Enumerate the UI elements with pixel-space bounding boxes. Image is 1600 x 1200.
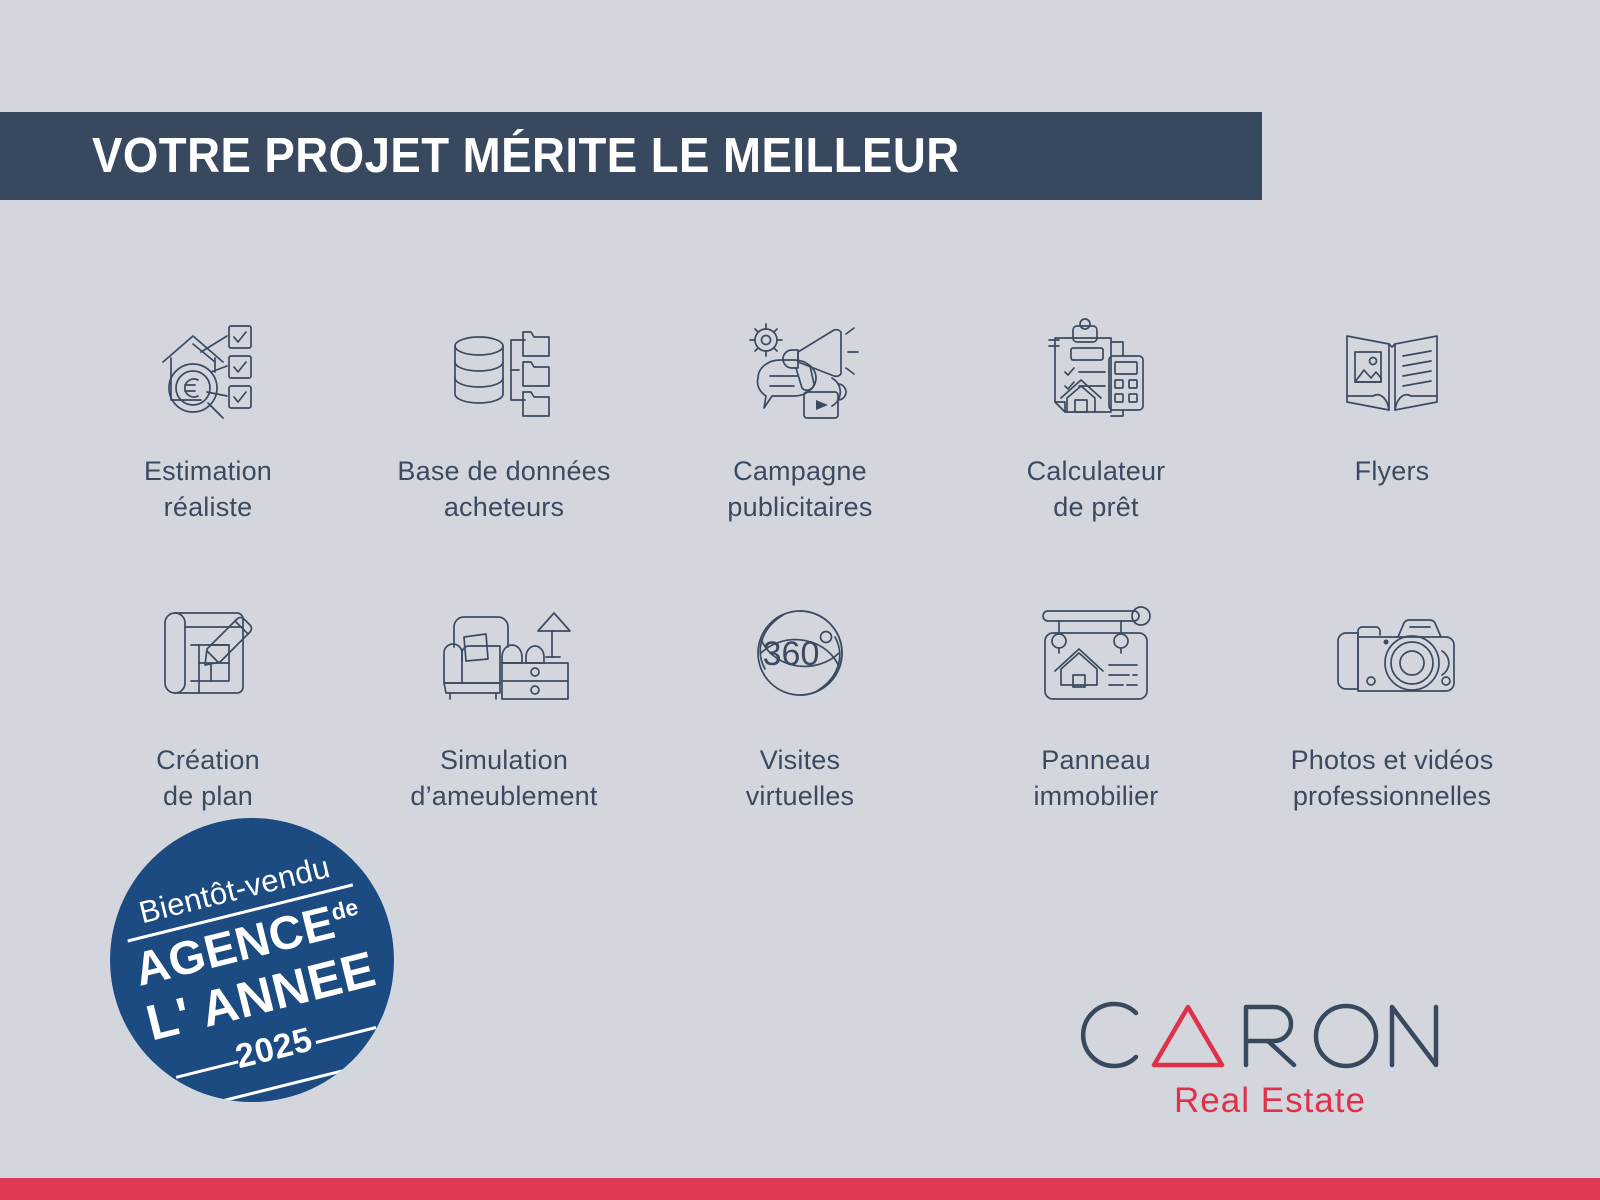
- award-badge-content: Bientôt-vendu AGENCEde L' ANNEE 2025: [110, 818, 394, 1102]
- feature-label: Campagne publicitaires: [727, 454, 872, 525]
- hanging-sign-house-icon: [1033, 593, 1159, 713]
- feature-label: Calculateur de prêt: [1027, 454, 1166, 525]
- feature-item-panneau[interactable]: Panneau immobilier: [948, 593, 1244, 814]
- feature-item-database[interactable]: Base de données acheteurs: [356, 312, 652, 525]
- feature-label: Photos et vidéos professionnelles: [1291, 743, 1494, 814]
- clipboard-calculator-icon: [1037, 312, 1155, 432]
- badge-de-text: de: [328, 894, 360, 926]
- database-folders-icon: [445, 312, 563, 432]
- feature-label: Estimation réaliste: [144, 454, 272, 525]
- feature-label: Simulation d’ameublement: [410, 743, 597, 814]
- bottom-accent-stripe: [0, 1178, 1600, 1200]
- feature-item-flyers[interactable]: Flyers: [1244, 312, 1540, 525]
- brand-tagline: Real Estate: [1060, 1081, 1480, 1121]
- feature-label: Visites virtuelles: [746, 743, 855, 814]
- feature-label: Flyers: [1355, 454, 1430, 490]
- award-badge: Bientôt-vendu AGENCEde L' ANNEE 2025: [110, 818, 394, 1102]
- feature-item-campagne[interactable]: Campagne publicitaires: [652, 312, 948, 525]
- feature-item-ameublement[interactable]: Simulation d’ameublement: [356, 593, 652, 814]
- dslr-camera-icon: [1324, 593, 1460, 713]
- page-title: VOTRE PROJET MÉRITE LE MEILLEUR: [92, 128, 960, 184]
- feature-item-visites[interactable]: 360 Visites virtuelles: [652, 593, 948, 814]
- feature-item-plan[interactable]: Création de plan: [60, 593, 356, 814]
- brand-logo: Real Estate: [1060, 995, 1480, 1121]
- open-brochure-icon: [1333, 312, 1451, 432]
- feature-row-1: Estimation réaliste Base de do: [60, 312, 1540, 525]
- brand-wordmark: [1060, 995, 1480, 1075]
- feature-item-calculateur[interactable]: Calculateur de prêt: [948, 312, 1244, 525]
- feature-item-estimation[interactable]: Estimation réaliste: [60, 312, 356, 525]
- feature-row-2: Création de plan: [60, 593, 1540, 814]
- feature-label: Création de plan: [156, 743, 260, 814]
- caron-logo-svg: [1070, 995, 1470, 1075]
- globe-360-icon: 360: [745, 593, 855, 713]
- svg-text:360: 360: [763, 635, 820, 673]
- feature-label: Panneau immobilier: [1033, 743, 1158, 814]
- floorplan-pencil-icon: [149, 593, 267, 713]
- megaphone-campaign-icon: [736, 312, 864, 432]
- sofa-lamp-furniture-icon: [434, 593, 574, 713]
- house-euro-checklist-icon: [149, 312, 267, 432]
- feature-grid: Estimation réaliste Base de do: [60, 312, 1540, 815]
- feature-item-photos[interactable]: Photos et vidéos professionnelles: [1244, 593, 1540, 814]
- header-banner: VOTRE PROJET MÉRITE LE MEILLEUR: [0, 112, 1262, 200]
- feature-label: Base de données acheteurs: [397, 454, 610, 525]
